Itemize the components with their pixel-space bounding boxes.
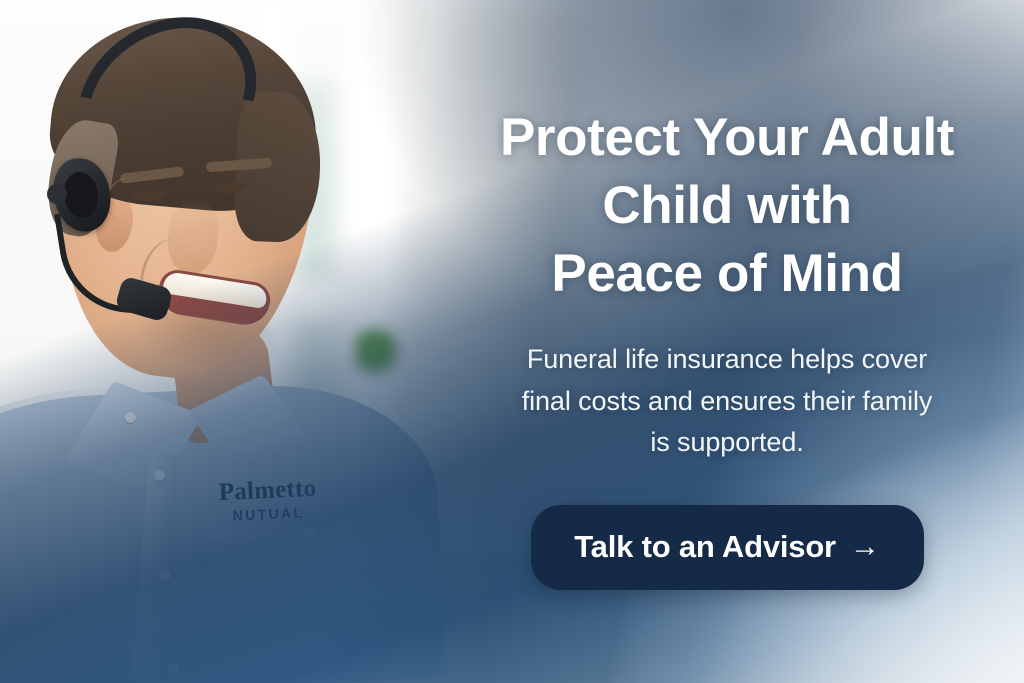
subheadline-line-3: is supported. [522,422,933,463]
arrow-right-icon: → [850,532,880,562]
subheadline: Funeral life insurance helps cover final… [522,339,933,462]
page-title: Protect Your Adult Child with Peace of M… [500,104,954,307]
headline-line-3: Peace of Mind [500,240,954,308]
insurance-hero-banner: Palmetto NUTUAL Protect Your Adult Child… [0,0,1024,683]
subheadline-line-2: final costs and ensures their family [522,381,933,422]
subheadline-line-1: Funeral life insurance helps cover [522,339,933,380]
talk-to-advisor-button[interactable]: Talk to an Advisor → [531,505,924,590]
cta-label: Talk to an Advisor [574,529,836,565]
headline-line-1: Protect Your Adult [500,104,954,172]
hero-content: Protect Your Adult Child with Peace of M… [430,0,1024,683]
headline-line-2: Child with [500,172,954,240]
